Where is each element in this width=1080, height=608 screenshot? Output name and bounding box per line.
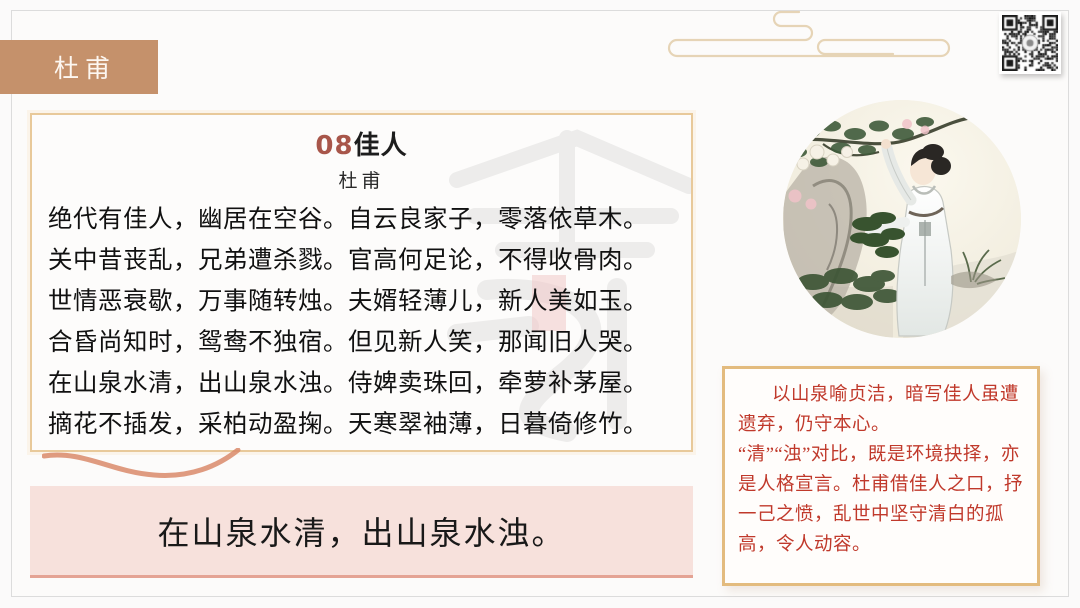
poem-line: 关中昔丧乱，兄弟遭杀戮。官高何足论，不得收骨肉。 <box>48 240 675 281</box>
poem-line-highlighted: 在山泉水清，出山泉水浊。侍婢卖珠回，牵萝补茅屋。 <box>48 363 675 404</box>
poem-lines: 绝代有佳人，幽居在空谷。自云良家子，零落依草木。 关中昔丧乱，兄弟遭杀戮。官高何… <box>48 199 675 445</box>
poem-line-tail-part: 侍婢卖珠回，牵萝补茅屋。 <box>348 370 648 397</box>
brush-swoosh-icon <box>42 448 242 482</box>
author-tag-label: 杜甫 <box>54 49 116 85</box>
poem-title-number: 08 <box>315 131 353 161</box>
cloud-decoration-icon <box>655 2 975 64</box>
highlight-banner: 在山泉水清，出山泉水浊。 <box>30 486 693 578</box>
highlight-banner-text: 在山泉水清，出山泉水浊。 <box>157 508 565 554</box>
commentary-paragraph: 以山泉喻贞洁，暗写佳人虽遭遗弃，仍守本心。 <box>738 380 1024 440</box>
commentary-paragraph: “清”“浊”对比，既是环境抉择，亦是人格宣言。杜甫借佳人之口，抒一己之愤，乱世中… <box>738 440 1024 560</box>
poem-line-highlight-part: 在山泉水清，出山泉水浊。 <box>48 370 348 397</box>
poem-line: 摘花不插发，采柏动盈掬。天寒翠袖薄，日暮倚修竹。 <box>48 404 675 445</box>
poem-title: 08佳人 <box>48 129 675 164</box>
commentary-card: 以山泉喻贞洁，暗写佳人虽遭遗弃，仍守本心。 “清”“浊”对比，既是环境抉择，亦是… <box>722 366 1040 586</box>
poem-line: 合昏尚知时，鸳鸯不独宿。但见新人笑，那闻旧人哭。 <box>48 322 675 363</box>
slide-root: 杜甫 08佳人 杜甫 绝代有 <box>0 0 1080 608</box>
poem-author: 杜甫 <box>48 166 675 193</box>
author-tag: 杜甫 <box>0 40 158 94</box>
painting-image <box>783 100 1021 338</box>
poem-card: 08佳人 杜甫 绝代有佳人，幽居在空谷。自云良家子，零落依草木。 关中昔丧乱，兄… <box>30 113 693 452</box>
poem-title-text: 佳人 <box>354 131 408 161</box>
qr-code[interactable] <box>999 12 1061 74</box>
poem-line: 世情恶衰歇，万事随转烛。夫婿轻薄儿，新人美如玉。 <box>48 281 675 322</box>
poem-line: 绝代有佳人，幽居在空谷。自云良家子，零落依草木。 <box>48 199 675 240</box>
